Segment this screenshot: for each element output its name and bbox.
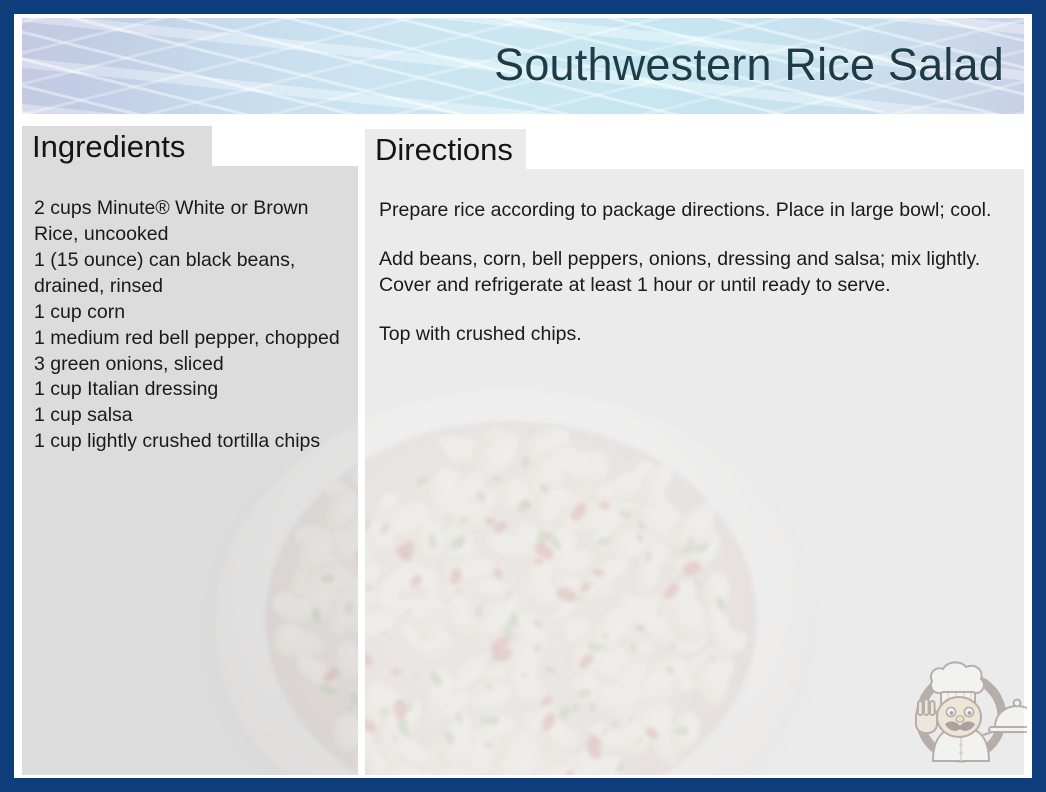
list-item: 1 medium red bell pepper, chopped bbox=[34, 326, 346, 352]
bean-bed-right bbox=[365, 421, 757, 775]
card-inner: Southwestern Rice Salad Ingredients Dire… bbox=[14, 14, 1032, 778]
ingredients-list: 2 cups Minute® White or Brown Rice, unco… bbox=[22, 166, 358, 455]
list-item: 1 cup Italian dressing bbox=[34, 377, 346, 403]
recipe-card: Southwestern Rice Salad Ingredients Dire… bbox=[0, 0, 1046, 792]
page-title: Southwestern Rice Salad bbox=[494, 39, 1004, 91]
list-item: 1 cup lightly crushed tortilla chips bbox=[34, 429, 346, 455]
directions-panel: Prepare rice according to package direct… bbox=[365, 169, 1024, 775]
list-item: 1 (15 ounce) can black beans, drained, r… bbox=[34, 248, 346, 300]
list-item: 1 cup corn bbox=[34, 300, 346, 326]
ingredients-panel: 2 cups Minute® White or Brown Rice, unco… bbox=[22, 166, 358, 775]
tab-ingredients-label: Ingredients bbox=[32, 131, 185, 162]
bean-bed-left bbox=[265, 421, 358, 775]
directions-steps: Prepare rice according to package direct… bbox=[365, 169, 1024, 348]
list-item: Prepare rice according to package direct… bbox=[379, 197, 1008, 223]
list-item: Add beans, corn, bell peppers, onions, d… bbox=[379, 246, 1008, 298]
tab-directions-label: Directions bbox=[375, 134, 513, 165]
tab-ingredients[interactable]: Ingredients bbox=[22, 126, 212, 166]
title-banner: Southwestern Rice Salad bbox=[22, 18, 1024, 114]
list-item: 2 cups Minute® White or Brown Rice, unco… bbox=[34, 196, 346, 248]
list-item: 1 cup salsa bbox=[34, 403, 346, 429]
list-item: 3 green onions, sliced bbox=[34, 352, 346, 378]
list-item: Top with crushed chips. bbox=[379, 321, 1008, 347]
tab-directions[interactable]: Directions bbox=[365, 129, 526, 169]
